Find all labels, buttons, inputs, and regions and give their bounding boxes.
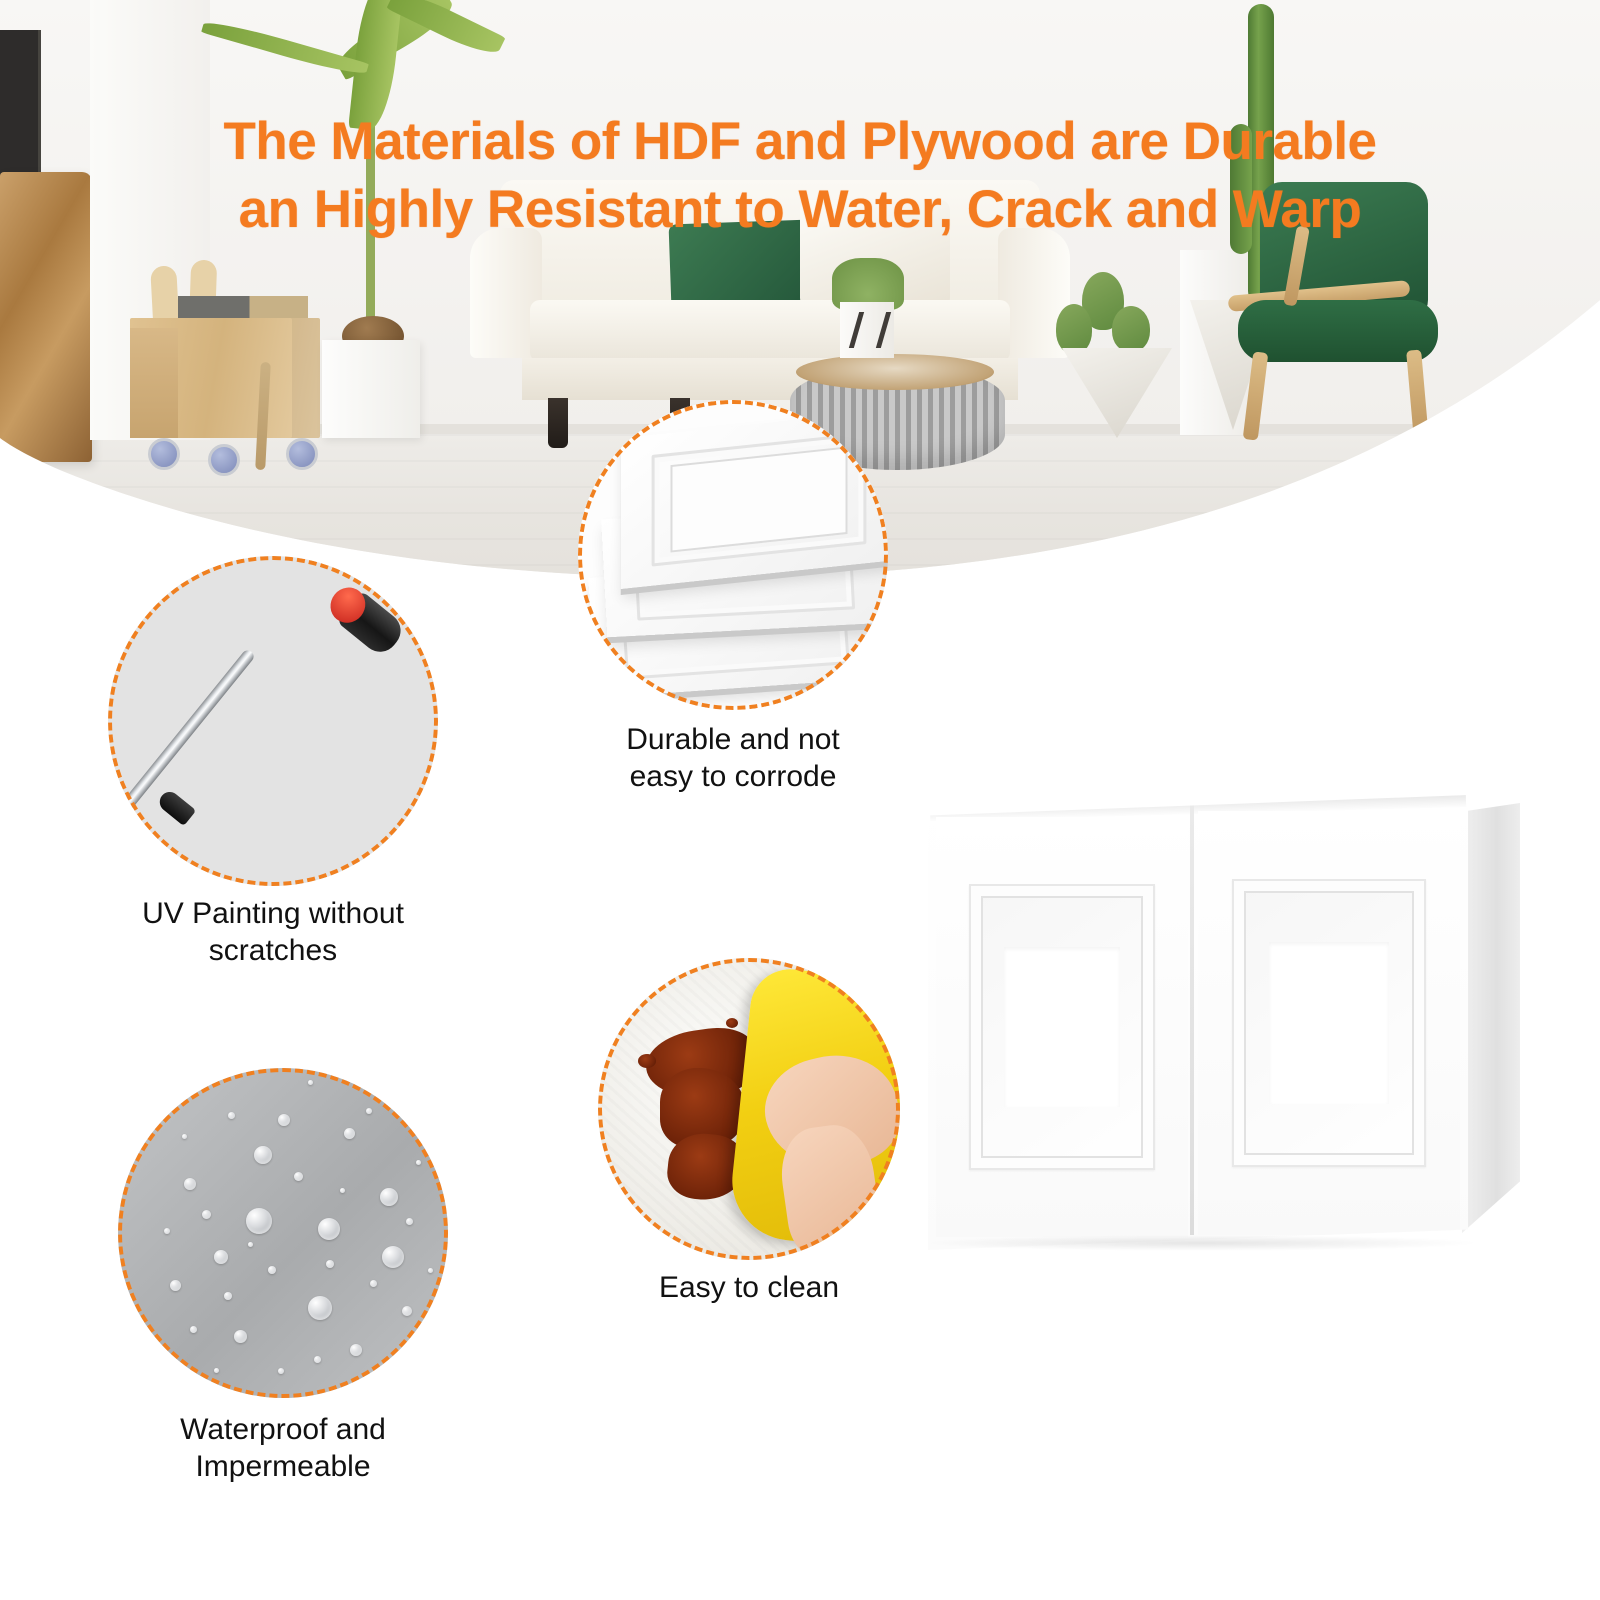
water-drop — [268, 1266, 276, 1274]
cactus-pad — [1112, 306, 1150, 352]
feature-caption-uv-painting: UV Painting without scratches — [53, 896, 493, 969]
feature-caption-waterproof: Waterproof and Impermeable — [78, 1412, 488, 1485]
hand-wiping-cloth-icon — [598, 958, 900, 1260]
succulent-pot — [840, 302, 894, 358]
water-drop — [428, 1268, 433, 1273]
feature-uv-painting: UV Painting without scratches — [108, 556, 438, 886]
cactus-pad — [1056, 304, 1092, 354]
cabinet-front-body — [928, 795, 1468, 1250]
water-drop — [370, 1280, 377, 1287]
feature-easy-clean: Easy to clean — [598, 958, 900, 1260]
headline-line-2: an Highly Resistant to Water, Crack and … — [0, 176, 1600, 244]
water-drop — [278, 1368, 284, 1374]
water-drop — [350, 1344, 362, 1356]
water-drop — [318, 1218, 340, 1240]
water-drop — [294, 1172, 303, 1181]
water-drop — [224, 1292, 232, 1300]
water-drop — [402, 1306, 412, 1316]
water-drop — [278, 1114, 290, 1126]
water-drop — [406, 1218, 413, 1225]
stain-droplet — [638, 1054, 656, 1068]
water-drop — [246, 1208, 272, 1234]
screwdriver-shaft — [118, 648, 256, 815]
wood-slab-tabletop — [796, 354, 994, 390]
water-drop — [248, 1242, 253, 1247]
infographic-canvas: The Materials of HDF and Plywood are Dur… — [0, 0, 1600, 1600]
water-drop — [228, 1112, 235, 1119]
cabinet-door-left[interactable] — [936, 817, 1188, 1237]
screwdriver-handle — [322, 579, 408, 659]
door-seam — [1190, 805, 1194, 1235]
water-drop — [340, 1188, 345, 1193]
water-drop — [416, 1160, 421, 1165]
dashed-ring — [108, 556, 438, 886]
caster-wheel — [286, 438, 318, 470]
water-drop — [164, 1228, 170, 1234]
panel-top — [621, 409, 888, 589]
water-drop — [308, 1296, 332, 1320]
water-drop — [202, 1210, 211, 1219]
water-drop — [170, 1280, 181, 1291]
feature-durable-corrode: Durable and not easy to corrode — [578, 400, 888, 710]
sofa-leg — [548, 398, 568, 448]
water-drop — [390, 1358, 396, 1364]
water-drop — [308, 1080, 313, 1085]
water-drop — [326, 1260, 334, 1268]
feature-caption-durable: Durable and not easy to corrode — [558, 722, 908, 795]
water-drop — [190, 1326, 197, 1333]
stacked-panels-icon — [578, 400, 888, 710]
white-planter — [322, 340, 420, 438]
door-panel-face-left — [1004, 947, 1120, 1107]
door-panel-face-right — [1269, 942, 1389, 1104]
caster-wheel — [148, 438, 180, 470]
water-drop — [366, 1108, 372, 1114]
cabinet-shadow — [922, 1235, 1482, 1251]
headline: The Materials of HDF and Plywood are Dur… — [0, 108, 1600, 244]
water-drop — [234, 1330, 247, 1343]
feature-caption-easy-clean: Easy to clean — [563, 1270, 935, 1307]
water-drop — [380, 1188, 398, 1206]
water-droplets-icon — [118, 1068, 448, 1398]
cabinet-side-panel — [1462, 803, 1520, 1233]
water-drop — [182, 1134, 187, 1139]
water-drop — [382, 1246, 404, 1268]
water-drop — [184, 1178, 196, 1190]
caster-wheel — [208, 444, 240, 476]
water-drop — [214, 1250, 228, 1264]
door-bevel-left — [969, 884, 1156, 1170]
water-drop — [214, 1368, 219, 1373]
wooden-crate-side — [130, 328, 178, 438]
headline-line-1: The Materials of HDF and Plywood are Dur… — [0, 108, 1600, 176]
screwdriver-icon — [108, 556, 438, 886]
sofa-seat-cushion — [530, 300, 1010, 362]
panel-inner-face — [671, 446, 848, 552]
screwdriver-tip — [155, 788, 196, 826]
water-drop — [314, 1356, 321, 1363]
water-drop — [254, 1146, 272, 1164]
feature-waterproof: Waterproof and Impermeable — [118, 1068, 448, 1398]
product-wall-cabinet — [928, 795, 1520, 1260]
water-drop — [344, 1128, 355, 1139]
cabinet-door-right[interactable] — [1198, 811, 1460, 1235]
stain-droplet — [726, 1018, 738, 1028]
door-bevel-right — [1232, 879, 1426, 1167]
